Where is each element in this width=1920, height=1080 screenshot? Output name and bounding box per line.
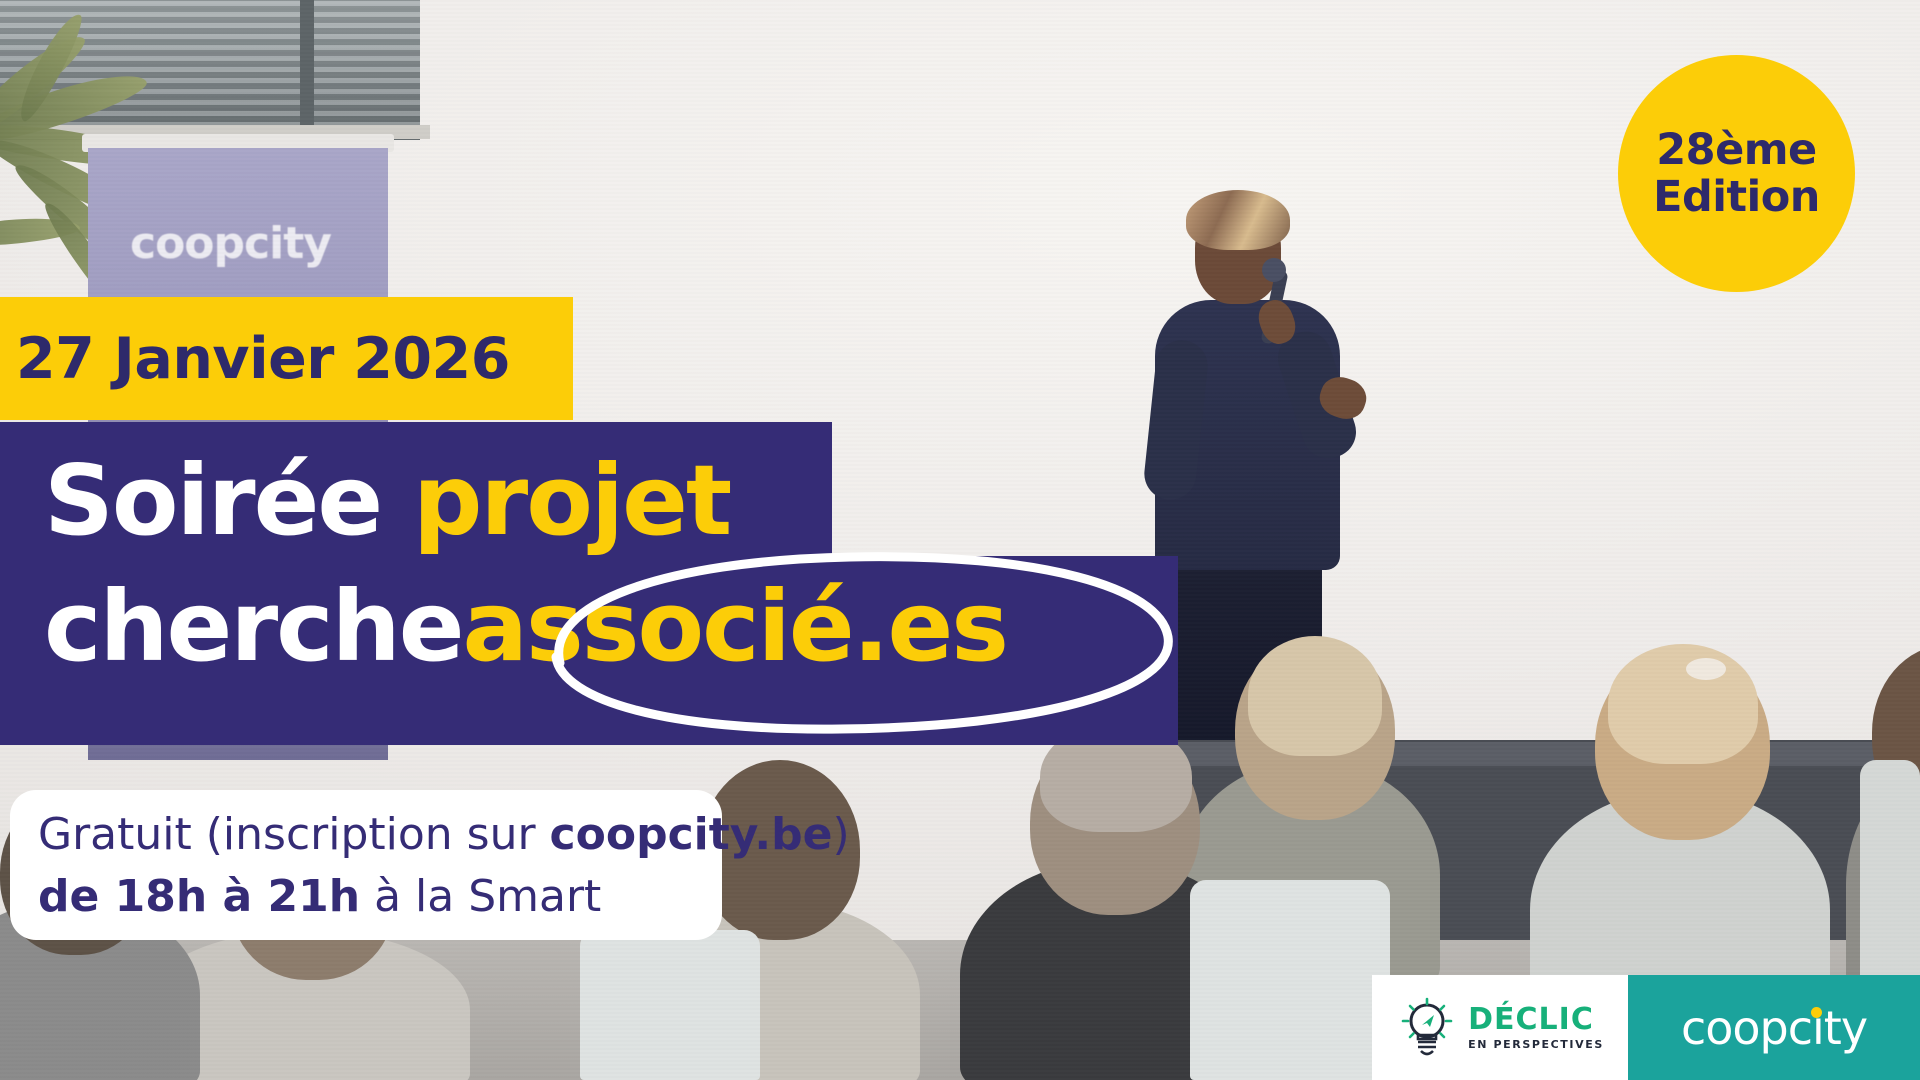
title-word-associees: associé.es (463, 570, 1007, 683)
edition-badge-line1: 28ème (1656, 127, 1816, 173)
title-word-cherche: cherche (44, 570, 463, 683)
coopcity-dot-accent (1811, 1007, 1822, 1018)
info-website: coopcity.be (550, 809, 833, 860)
logo-declic: DÉCLIC EN PERSPECTIVES (1372, 975, 1628, 1080)
title-word-projet: projet (413, 444, 730, 557)
info-card: Gratuit (inscription sur coopcity.be) de… (10, 790, 722, 940)
logo-coopcity: coopcity (1628, 975, 1920, 1080)
info-free-text: Gratuit (inscription sur (38, 809, 550, 860)
info-time: de 18h à 21h (38, 871, 360, 922)
date-banner: 27 Janvier 2026 (0, 297, 573, 420)
speaker-headwrap (1186, 190, 1290, 250)
rollup-banner-logo: coopcity (130, 218, 345, 270)
edition-badge-line2: Edition (1653, 174, 1820, 220)
microphone-head (1262, 258, 1286, 282)
info-row-time-venue: de 18h à 21h à la Smart (38, 866, 722, 928)
declic-logo-tagline: EN PERSPECTIVES (1468, 1039, 1604, 1050)
title-line-2: chercheassocié.es (44, 578, 1244, 698)
title-line-1: Soirée projet (44, 452, 1044, 562)
title-word-soiree: Soirée (44, 444, 413, 557)
info-paren-close: ) (832, 809, 849, 860)
coopcity-logo-text: coopcity (1681, 1001, 1867, 1055)
coopcity-wordmark: coopcity (1681, 1001, 1867, 1055)
info-row-registration: Gratuit (inscription sur coopcity.be) (38, 804, 722, 866)
lightbulb-arrow-icon (1396, 995, 1458, 1061)
edition-badge: 28ème Edition (1618, 55, 1855, 292)
info-venue: à la Smart (360, 871, 601, 922)
event-poster: coopcity gramme EDS BL (0, 0, 1920, 1080)
event-date: 27 Janvier 2026 (0, 326, 510, 392)
declic-logo-text: DÉCLIC (1468, 1005, 1604, 1035)
